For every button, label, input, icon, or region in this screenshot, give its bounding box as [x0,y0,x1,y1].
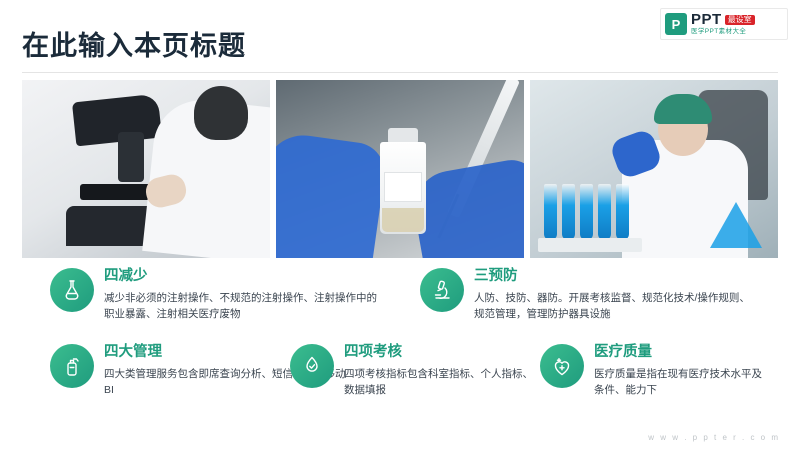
vial-liquid-shape [382,208,424,232]
footer-watermark: w w w . p p t e r . c o m [648,433,780,442]
test-tube-shape [544,184,557,240]
vaccine-vial-syringe-photo [276,80,524,258]
key-point-texts: 医疗质量 医疗质量是指在现有医疗技术水平及条件、能力下 [594,344,770,398]
key-points-group: 四减少 减少非必须的注射操作、不规范的注射操作、注射操作中的职业暴露、注射相关医… [22,268,778,418]
key-point-desc: 医疗质量是指在现有医疗技术水平及条件、能力下 [594,366,770,399]
logo-tag: 最设室 [725,15,755,25]
microscope-tube-shape [118,132,144,182]
key-point-texts: 四减少 减少非必须的注射操作、不规范的注射操作、注射操作中的职业暴露、注射相关医… [104,268,380,322]
photo-strip [22,80,778,258]
key-point-title: 医疗质量 [594,345,770,361]
logo-top-row: PPT 最设室 [691,12,755,27]
key-point-desc: 四项考核指标包含科室指标、个人指标、数据填报 [344,366,540,399]
sanitizer-bottle-icon [50,344,94,388]
key-point-title: 四减少 [104,269,380,285]
key-point-texts: 四项考核 四项考核指标包含科室指标、个人指标、数据填报 [344,344,540,398]
logo-badge-icon: P [665,13,687,35]
blue-glove-left-shape [276,130,388,258]
key-point-item: 四减少 减少非必须的注射操作、不规范的注射操作、注射操作中的职业暴露、注射相关医… [50,268,380,322]
researcher-head-shape [194,86,248,140]
microscope-icon [420,268,464,312]
slide-canvas: P PPT 最设室 医学PPT素材大全 在此输入本页标题 [0,0,800,450]
logo-text-group: PPT 最设室 医学PPT素材大全 [691,12,755,36]
brand-logo: P PPT 最设室 医学PPT素材大全 [660,8,788,40]
key-point-texts: 三预防 人防、技防、器防。开展考核监督、规范化技术/操作规则、规范管理，管理防护… [474,268,760,322]
key-point-desc: 减少非必须的注射操作、不规范的注射操作、注射操作中的职业暴露、注射相关医疗废物 [104,290,380,323]
droplet-check-icon [290,344,334,388]
test-tube-shape [562,184,575,240]
microscope-arm-shape [72,94,162,147]
logo-name: PPT [691,12,722,27]
microscope-researcher-photo [22,80,270,258]
logo-subtitle: 医学PPT素材大全 [691,29,755,36]
key-point-desc: 人防、技防、器防。开展考核监督、规范化技术/操作规则、规范管理，管理防护器具设施 [474,290,760,323]
vial-label-shape [384,172,422,202]
key-point-item: 三预防 人防、技防、器防。开展考核监督、规范化技术/操作规则、规范管理，管理防护… [420,268,760,322]
blue-flask-shape [710,202,762,248]
key-point-item: 医疗质量 医疗质量是指在现有医疗技术水平及条件、能力下 [540,344,770,398]
page-title: 在此输入本页标题 [22,24,246,63]
key-point-title: 三预防 [474,269,760,285]
tube-rack-shape [538,238,642,252]
test-tube-shape [580,184,593,240]
key-point-title: 四项考核 [344,345,540,361]
test-tube-shape [616,184,629,240]
flask-icon [50,268,94,312]
test-tube-shape [598,184,611,240]
lab-scientist-blue-tubes-photo [530,80,778,258]
medical-cross-heart-icon [540,344,584,388]
title-divider [22,72,778,73]
key-point-item: 四项考核 四项考核指标包含科室指标、个人指标、数据填报 [290,344,540,398]
